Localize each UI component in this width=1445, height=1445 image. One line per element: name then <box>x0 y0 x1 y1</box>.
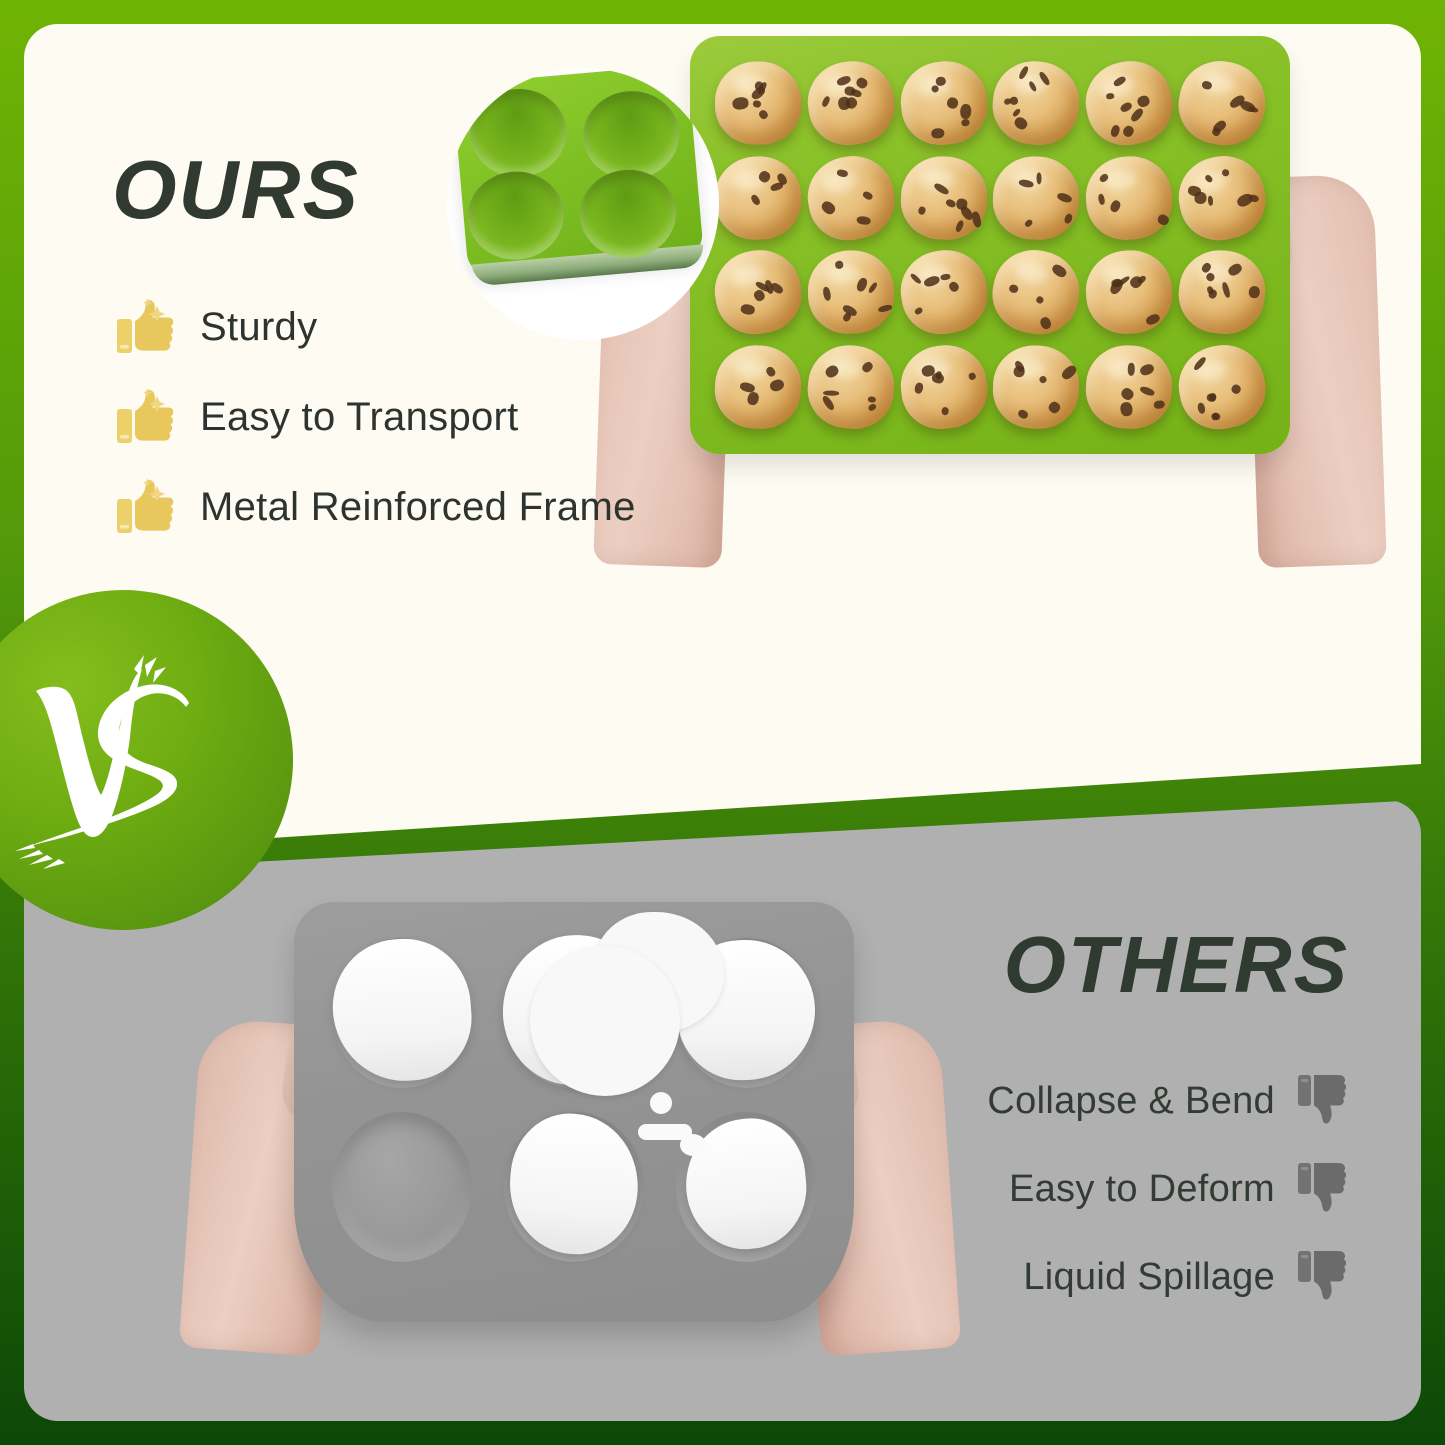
chocolate-chip <box>1056 191 1073 204</box>
muffin <box>1083 153 1175 243</box>
chocolate-chip <box>913 307 923 316</box>
chocolate-chip <box>1129 106 1145 123</box>
chocolate-chip <box>967 372 976 381</box>
feature-label: Collapse & Bend <box>987 1080 1275 1123</box>
chocolate-chip <box>750 193 762 206</box>
chocolate-chip <box>877 305 892 314</box>
chocolate-chip <box>1036 296 1046 305</box>
chocolate-chip <box>1120 386 1136 401</box>
infographic-canvas: OURS Sturdy <box>0 0 1445 1445</box>
thumbs-up-icon <box>116 297 176 359</box>
chocolate-chip <box>867 396 876 403</box>
muffin <box>800 149 901 247</box>
chocolate-chip <box>1120 401 1134 417</box>
muffin <box>1084 343 1175 431</box>
chocolate-chip <box>930 127 944 138</box>
chocolate-chip <box>732 96 749 110</box>
chocolate-chip <box>1051 263 1069 279</box>
muffin <box>1083 248 1175 337</box>
muffin <box>715 61 801 144</box>
feature-label: Easy to Deform <box>1009 1168 1275 1211</box>
inset-tray-body <box>452 68 704 276</box>
inset-cup <box>467 85 570 181</box>
muffin-highlight <box>733 356 769 379</box>
feature-label: Easy to Transport <box>200 395 519 440</box>
chocolate-chip <box>1128 363 1135 376</box>
chocolate-chip <box>1039 316 1053 331</box>
chocolate-chip <box>1110 124 1121 138</box>
muffin-cell <box>898 246 990 340</box>
muffin-cell <box>805 340 897 434</box>
chocolate-chip <box>1121 124 1135 139</box>
chocolate-chip <box>1137 93 1151 107</box>
muffin <box>1172 338 1272 436</box>
chocolate-chip <box>960 118 969 126</box>
chocolate-chip <box>1017 408 1030 420</box>
muffin-cell <box>712 56 804 150</box>
feature-row: Collapse & Bend <box>987 1062 1353 1140</box>
muffin-cell <box>1176 246 1268 340</box>
feature-label: Sturdy <box>200 305 317 350</box>
thumbs-down-icon <box>1297 1247 1353 1307</box>
chocolate-chip <box>758 108 770 120</box>
chocolate-chip <box>918 205 927 214</box>
chocolate-chip <box>944 198 956 209</box>
muffin <box>896 341 992 434</box>
others-feature-list: Collapse & Bend Easy to Deform <box>987 1062 1353 1326</box>
muffin <box>1079 53 1180 152</box>
muffin-cell <box>1176 151 1268 245</box>
chocolate-chip <box>819 199 836 216</box>
muffin <box>986 243 1087 342</box>
feature-label: Metal Reinforced Frame <box>200 485 636 530</box>
feature-row: Sturdy <box>116 286 736 369</box>
thumbs-down-icon <box>1297 1159 1353 1219</box>
chocolate-chip <box>862 189 874 200</box>
muffin <box>1175 247 1269 339</box>
ours-title: OURS <box>112 148 360 231</box>
tray-cup <box>492 1104 656 1270</box>
chocolate-chip <box>768 378 785 393</box>
chocolate-chip <box>1248 286 1260 299</box>
chocolate-chip <box>1194 191 1206 203</box>
feature-row: Liquid Spillage <box>987 1238 1353 1316</box>
gray-tray-photo <box>190 872 950 1392</box>
muffin <box>992 154 1082 241</box>
chocolate-chip <box>821 95 831 107</box>
muffin <box>989 56 1084 149</box>
muffin-cell <box>991 246 1083 340</box>
ours-feature-list: Sturdy Easy to Transport <box>116 286 736 556</box>
chocolate-chip <box>820 394 835 411</box>
feature-row: Metal Reinforced Frame <box>116 466 736 549</box>
chocolate-chip <box>1106 92 1114 98</box>
muffin-cell <box>991 340 1083 434</box>
chocolate-chip <box>954 219 964 233</box>
chocolate-chip <box>1156 212 1170 225</box>
muffin-cell <box>898 340 990 434</box>
chocolate-chip <box>860 360 874 374</box>
muffin-cell <box>1176 340 1268 434</box>
thumbs-up-icon <box>116 477 176 539</box>
chocolate-chip <box>1197 402 1206 415</box>
others-title: OTHERS <box>1004 925 1349 1005</box>
muffin-cell <box>1083 246 1175 340</box>
chocolate-chip <box>856 215 871 225</box>
muffin-cell <box>805 246 897 340</box>
batter-drip <box>650 1092 672 1114</box>
muffin-cell <box>898 151 990 245</box>
chocolate-chip <box>1039 374 1049 384</box>
chocolate-chip <box>739 304 754 316</box>
cup-cavity <box>332 1112 472 1262</box>
muffin <box>992 344 1081 430</box>
thumbs-down-icon <box>1297 1071 1353 1131</box>
muffin <box>713 154 803 241</box>
chocolate-chip <box>764 366 776 378</box>
chocolate-chip <box>947 280 960 294</box>
muffin-cell <box>712 151 804 245</box>
feature-row: Easy to Transport <box>116 376 736 459</box>
muffin-cell <box>1083 151 1175 245</box>
thumbs-up-icon <box>116 387 176 449</box>
green-muffin-tray <box>690 36 1290 454</box>
chocolate-chip <box>1139 385 1155 397</box>
chocolate-chip <box>1013 115 1030 132</box>
chocolate-chip <box>1098 193 1106 205</box>
chocolate-chip <box>946 96 960 110</box>
chocolate-chip <box>854 277 868 294</box>
chocolate-chip <box>1110 199 1123 213</box>
muffin-cell <box>805 56 897 150</box>
chocolate-chip <box>940 273 951 280</box>
tray-cup <box>320 1104 484 1270</box>
chocolate-chip <box>956 197 968 209</box>
others-panel: OTHERS Collapse & Bend Easy to Deform <box>24 800 1421 1421</box>
muffin-cell <box>805 151 897 245</box>
chocolate-chip <box>1060 363 1078 381</box>
muffin <box>804 342 897 433</box>
muffin <box>1171 148 1272 247</box>
chocolate-chip <box>1208 288 1219 299</box>
batter-spill <box>530 946 680 1096</box>
chocolate-chip <box>1145 313 1161 327</box>
vs-brush-mark <box>3 645 243 875</box>
chocolate-chip <box>752 289 766 303</box>
chocolate-chip <box>1221 281 1231 298</box>
chocolate-chip <box>1010 96 1019 105</box>
muffin <box>896 57 991 149</box>
chocolate-chip <box>1230 383 1242 395</box>
chocolate-chip <box>914 382 924 394</box>
muffin <box>894 244 993 340</box>
muffin-cell <box>1083 340 1175 434</box>
chocolate-chip <box>1119 101 1134 114</box>
chocolate-chip <box>1036 172 1041 184</box>
feature-label: Liquid Spillage <box>1023 1256 1275 1299</box>
muffin-grid <box>712 56 1268 434</box>
chocolate-chip <box>1008 284 1019 295</box>
muffin-cell <box>991 151 1083 245</box>
chocolate-chip <box>1048 400 1063 415</box>
chocolate-chip <box>752 100 761 108</box>
feature-row: Easy to Deform <box>987 1150 1353 1228</box>
chocolate-chip <box>746 391 761 407</box>
muffin-highlight <box>1013 258 1051 286</box>
muffin <box>802 56 899 150</box>
chocolate-chip <box>960 104 972 120</box>
muffin-cell <box>991 56 1083 150</box>
tray-cup <box>320 930 484 1096</box>
chocolate-chip <box>1025 218 1035 228</box>
chocolate-chip <box>1063 212 1074 224</box>
muffin-cell <box>898 56 990 150</box>
muffin-cell <box>1176 56 1268 150</box>
muffin <box>807 250 895 335</box>
batter-drip <box>680 1134 706 1156</box>
chocolate-chip <box>1207 195 1213 205</box>
chocolate-chip <box>1139 362 1156 377</box>
gray-muffin-tray <box>294 902 854 1322</box>
chocolate-chip <box>1153 399 1165 409</box>
muffin <box>1173 55 1272 152</box>
chocolate-chip <box>821 286 831 301</box>
chocolate-chip <box>941 407 949 415</box>
chocolate-chip <box>867 403 877 412</box>
muffin-cell <box>1083 56 1175 150</box>
chocolate-chip <box>1221 168 1229 176</box>
muffin <box>898 154 988 242</box>
inset-cup <box>464 168 567 264</box>
chocolate-chip <box>867 282 878 295</box>
